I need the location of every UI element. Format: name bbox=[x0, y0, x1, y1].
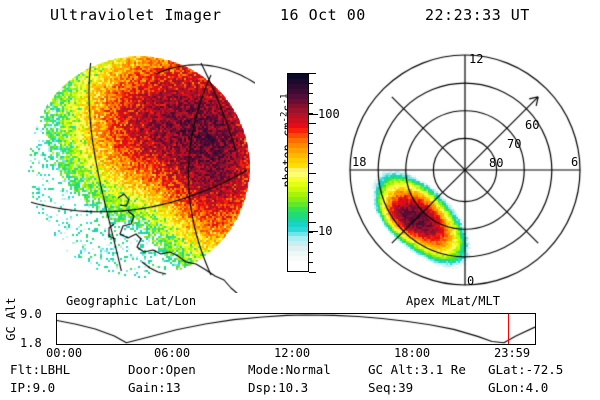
status-field: GLat: -72.5 bbox=[488, 362, 563, 377]
status-value: 4.0 bbox=[526, 380, 549, 395]
orbit-altitude-strip: Geographic Lat/Lon Apex MLat/MLT GC Alt … bbox=[0, 292, 600, 354]
strip-xtick-label: 06:00 bbox=[154, 346, 190, 360]
status-field: Dsp: 10.3 bbox=[248, 380, 308, 395]
strip-xtick-label: 18:00 bbox=[394, 346, 430, 360]
colorbar-tick-mark bbox=[309, 153, 313, 154]
geographic-globe-panel bbox=[10, 48, 255, 293]
status-block: Flt: LBHLDoor: OpenMode: NormalGC Alt: 3… bbox=[0, 362, 600, 400]
strip-plot-box bbox=[56, 313, 536, 345]
status-key: GC Alt: bbox=[368, 362, 421, 377]
colorbar-gradient bbox=[287, 73, 309, 272]
status-value: LBHL bbox=[40, 362, 70, 377]
strip-title-left: Geographic Lat/Lon bbox=[66, 294, 196, 308]
colorbar-major-tick bbox=[309, 231, 318, 232]
colorbar-tick-mark bbox=[309, 242, 313, 243]
strip-ytick-label: 9.0 bbox=[20, 307, 42, 321]
status-key: GLat: bbox=[488, 362, 526, 377]
altitude-curve bbox=[57, 314, 535, 344]
status-value: Normal bbox=[286, 362, 331, 377]
status-key: Gain: bbox=[128, 380, 166, 395]
colorbar-tick-mark bbox=[309, 93, 313, 94]
observation-time: 22:23:33 UT bbox=[425, 6, 530, 24]
colorbar-tick-mark bbox=[309, 143, 313, 144]
colorbar-tick-mark bbox=[309, 133, 313, 134]
strip-title-right: Apex MLat/MLT bbox=[406, 294, 500, 308]
strip-xtick-label: 12:00 bbox=[274, 346, 310, 360]
polar-mlt-label-0: 0 bbox=[467, 274, 474, 288]
status-key: GLon: bbox=[488, 380, 526, 395]
colorbar-band bbox=[288, 266, 308, 271]
status-field: GLon: 4.0 bbox=[488, 380, 548, 395]
polar-mlat-label-80: 80 bbox=[489, 156, 503, 170]
status-value: Open bbox=[166, 362, 196, 377]
status-key: IP: bbox=[10, 380, 33, 395]
status-value: 10.3 bbox=[278, 380, 308, 395]
colorbar-tick-mark bbox=[309, 103, 313, 104]
status-value: 3.1 Re bbox=[421, 362, 466, 377]
colorbar-tick-mark bbox=[309, 262, 313, 263]
status-field: Flt: LBHL bbox=[10, 362, 70, 377]
status-field: Seq: 39 bbox=[368, 380, 413, 395]
colorbar-tick-mark bbox=[309, 192, 313, 193]
colorbar-tick-mark bbox=[309, 182, 313, 183]
strip-xtick-label: 00:00 bbox=[46, 346, 82, 360]
colorbar-tick-mark bbox=[309, 212, 313, 213]
page-title: Ultraviolet Imager bbox=[50, 6, 222, 24]
current-time-marker bbox=[508, 314, 509, 344]
colorbar-tick-label: 10 bbox=[318, 225, 332, 237]
colorbar-tick-mark bbox=[309, 83, 313, 84]
status-field: IP: 9.0 bbox=[10, 380, 55, 395]
polar-mlt-label-18: 18 bbox=[352, 155, 366, 169]
status-key: Dsp: bbox=[248, 380, 278, 395]
status-key: Flt: bbox=[10, 362, 40, 377]
status-value: 39 bbox=[398, 380, 413, 395]
colorbar-major-tick bbox=[309, 114, 318, 115]
status-key: Mode: bbox=[248, 362, 286, 377]
polar-mlat-label-70: 70 bbox=[507, 137, 521, 151]
polar-plot bbox=[345, 48, 595, 293]
strip-ytick-label: 1.8 bbox=[20, 336, 42, 350]
status-field: Door: Open bbox=[128, 362, 196, 377]
polar-mlat-label-60: 60 bbox=[525, 118, 539, 132]
header-bar: Ultraviolet Imager 16 Oct 00 22:23:33 UT bbox=[0, 6, 600, 32]
colorbar-tick-mark bbox=[309, 123, 316, 124]
colorbar-tick-mark bbox=[309, 202, 313, 203]
colorbar-tick-mark bbox=[309, 232, 313, 233]
strip-ylabel: GC Alt bbox=[4, 296, 18, 342]
status-field: Mode: Normal bbox=[248, 362, 331, 377]
status-field: GC Alt: 3.1 Re bbox=[368, 362, 466, 377]
apex-polar-panel: 126018607080 bbox=[345, 48, 595, 293]
polar-mlt-label-6: 6 bbox=[571, 155, 578, 169]
status-value: 13 bbox=[166, 380, 181, 395]
status-value: 9.0 bbox=[33, 380, 56, 395]
polar-mlt-label-12: 12 bbox=[469, 52, 483, 66]
status-key: Door: bbox=[128, 362, 166, 377]
status-value: -72.5 bbox=[526, 362, 564, 377]
strip-xtick-label: 23:59 bbox=[494, 346, 530, 360]
colorbar-tick-mark bbox=[309, 173, 316, 174]
observation-date: 16 Oct 00 bbox=[280, 6, 366, 24]
colorbar-tick-mark bbox=[309, 252, 313, 253]
colorbar-tick-label: 100 bbox=[318, 108, 340, 120]
status-field: Gain: 13 bbox=[128, 380, 181, 395]
colorbar-tick-mark bbox=[309, 272, 316, 273]
colorbar-tick-mark bbox=[309, 222, 316, 223]
colorbar-tick-mark bbox=[309, 73, 316, 74]
globe-coastline-overlay bbox=[10, 48, 255, 293]
colorbar-panel: photon cm-2s-1 10010 bbox=[258, 55, 343, 295]
status-key: Seq: bbox=[368, 380, 398, 395]
colorbar-tick-mark bbox=[309, 163, 313, 164]
